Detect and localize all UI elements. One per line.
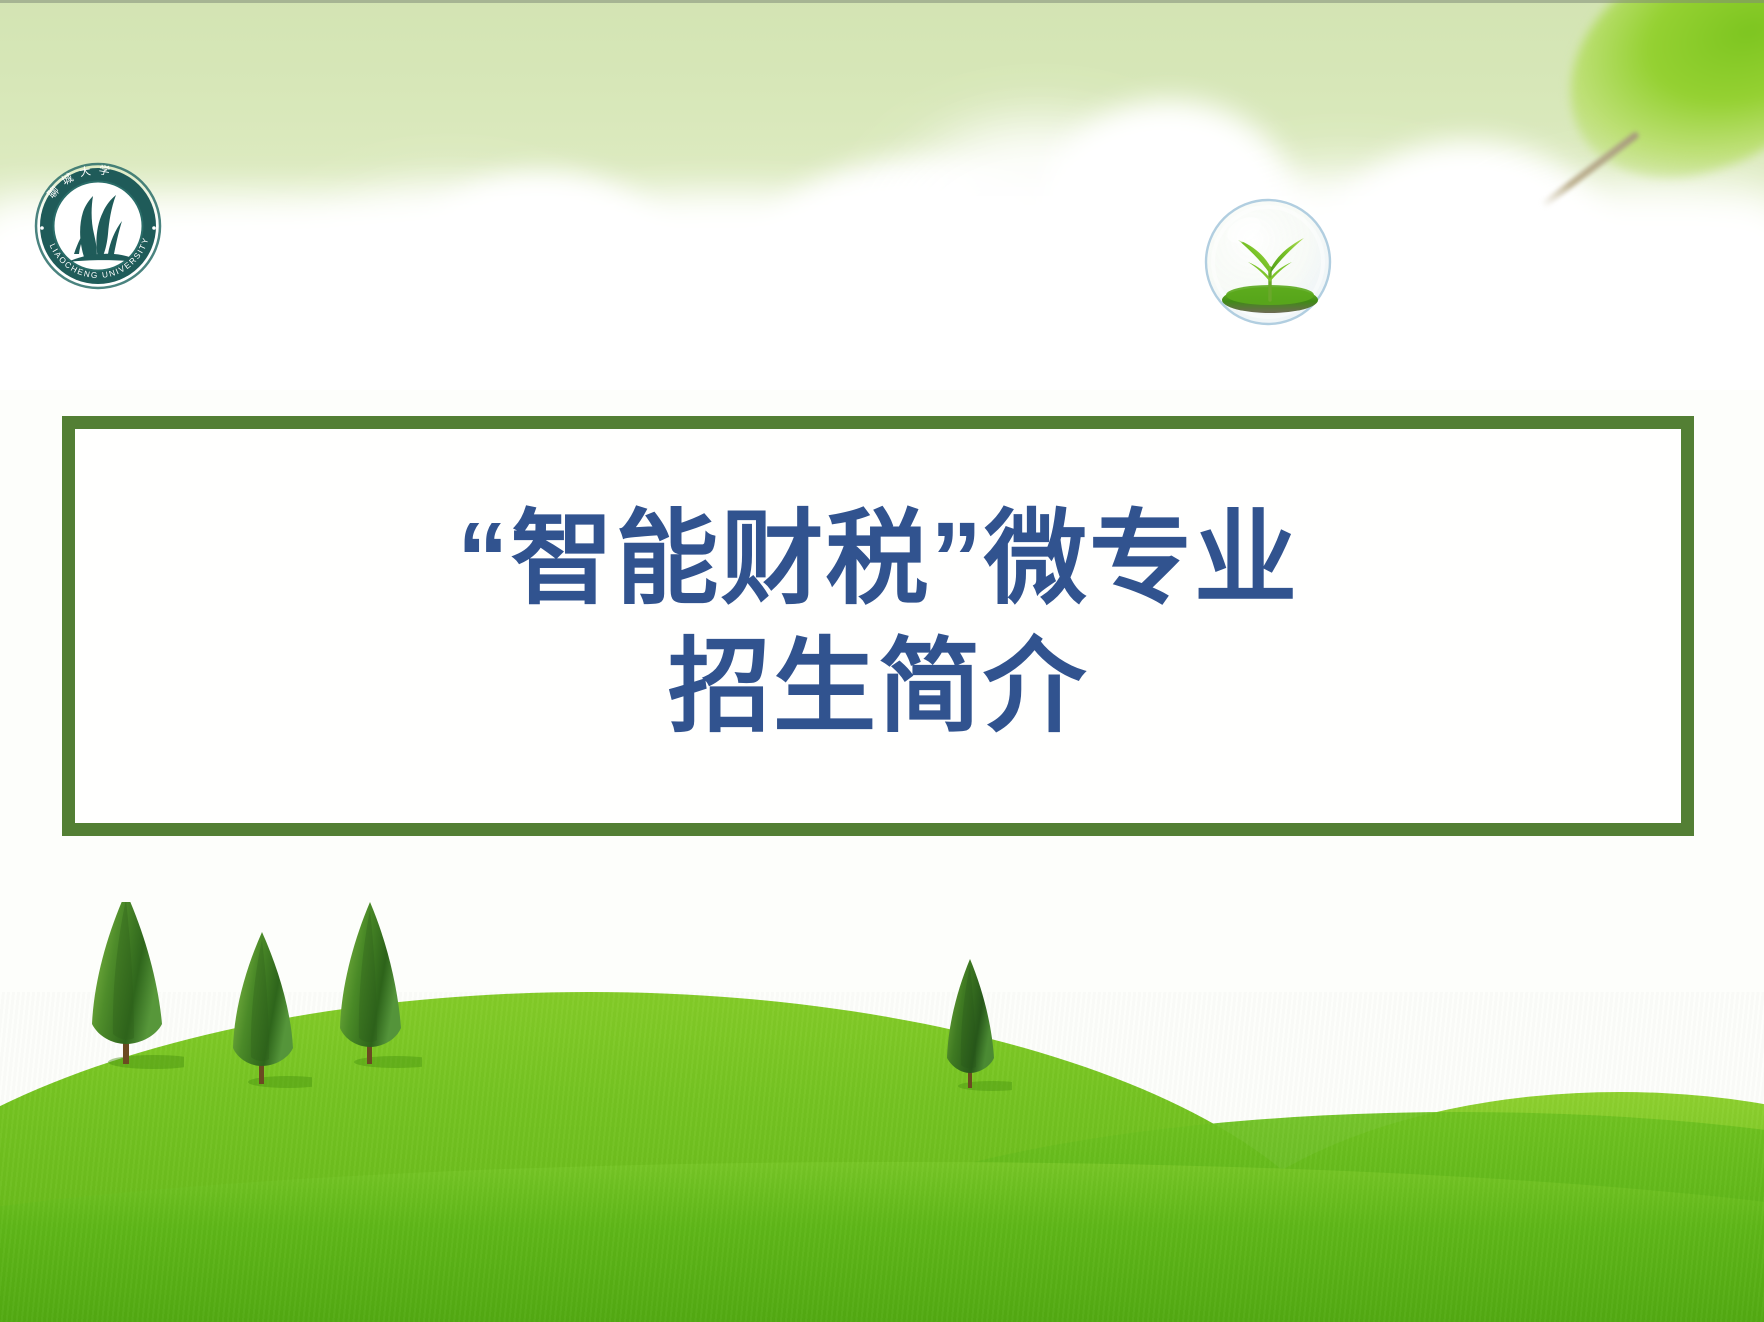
tree-icon (318, 902, 422, 1076)
slide-canvas: LIAOCHENG UNIVERSITY 聊城大学 (0, 0, 1764, 1322)
tree-icon (930, 954, 1012, 1098)
page-title-line-2: 招生简介 (668, 624, 1088, 750)
title-frame: “智能财税”微专业 招生简介 (62, 416, 1694, 836)
cloud-base-deck (0, 196, 1764, 390)
sprout-bubble-icon (1188, 182, 1348, 342)
tree-icon (68, 902, 184, 1074)
university-logo: LIAOCHENG UNIVERSITY 聊城大学 (22, 150, 174, 302)
landscape-illustration (0, 902, 1764, 1322)
tree-icon (212, 926, 312, 1094)
page-title-line-1: “智能财税”微专业 (457, 496, 1299, 622)
header-sky-band (0, 0, 1764, 390)
hill-front (0, 1162, 1764, 1322)
